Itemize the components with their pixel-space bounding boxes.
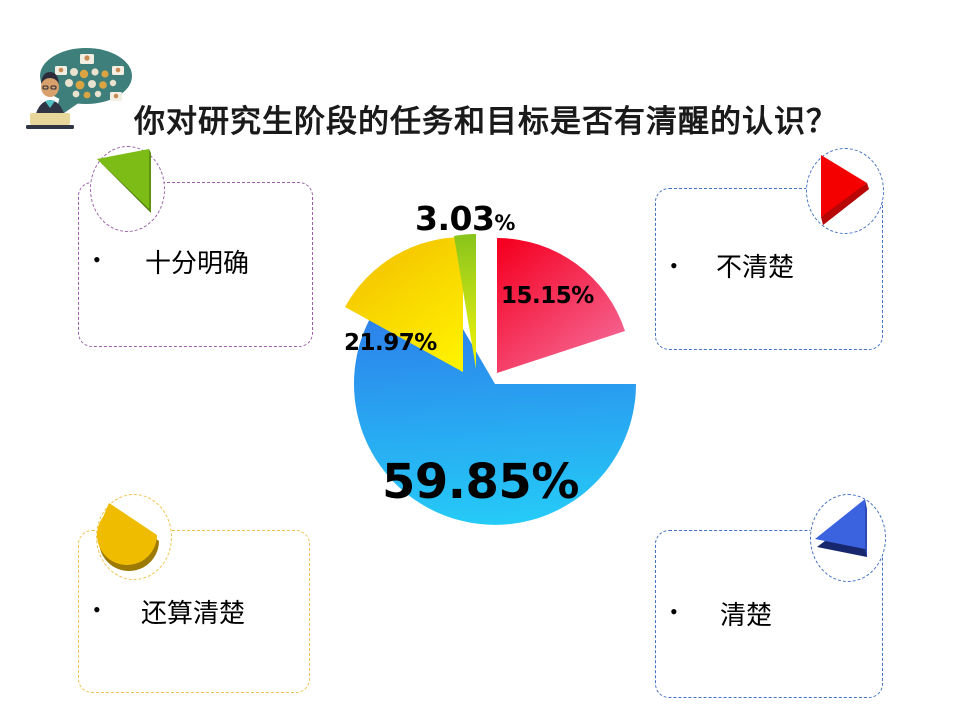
pie-chart-svg — [295, 195, 675, 595]
pie-chart: 3.03% 15.15% 21.97% 59.85% — [295, 195, 675, 595]
slide-header: 你对研究生阶段的任务和目标是否有清醒的认识？ — [24, 40, 936, 135]
pie-label-buqingchu: 15.15% — [501, 283, 594, 309]
pie-label-haisuanqingchu: 21.97% — [344, 330, 437, 356]
legend-bullet: • — [670, 255, 678, 277]
legend-label-haisuanqingchu: 还算清楚 — [141, 593, 245, 630]
legend-label-qingchu: 清楚 — [720, 595, 772, 632]
legend-bullet: • — [93, 599, 101, 621]
pie-label-shifenmingque: 3.03% — [415, 199, 515, 238]
pie-slice-red-icon — [806, 148, 884, 234]
pie-slice-green-icon — [90, 146, 165, 232]
pie-label-qingchu: 59.85% — [382, 454, 579, 510]
pie-slice-blue-icon — [810, 494, 886, 582]
legend-label-shifenmingque: 十分明确 — [145, 243, 249, 280]
slide-canvas: 你对研究生阶段的任务和目标是否有清醒的认识？ — [0, 0, 960, 720]
pie-slice-yellow-icon — [96, 494, 172, 580]
page-title: 你对研究生阶段的任务和目标是否有清醒的认识？ — [134, 96, 838, 141]
legend-bullet: • — [93, 249, 101, 271]
person-at-laptop-speech-bubble-icon — [24, 40, 136, 132]
legend-label-buqingchu: 不清楚 — [716, 247, 794, 284]
legend-bullet: • — [670, 601, 678, 623]
